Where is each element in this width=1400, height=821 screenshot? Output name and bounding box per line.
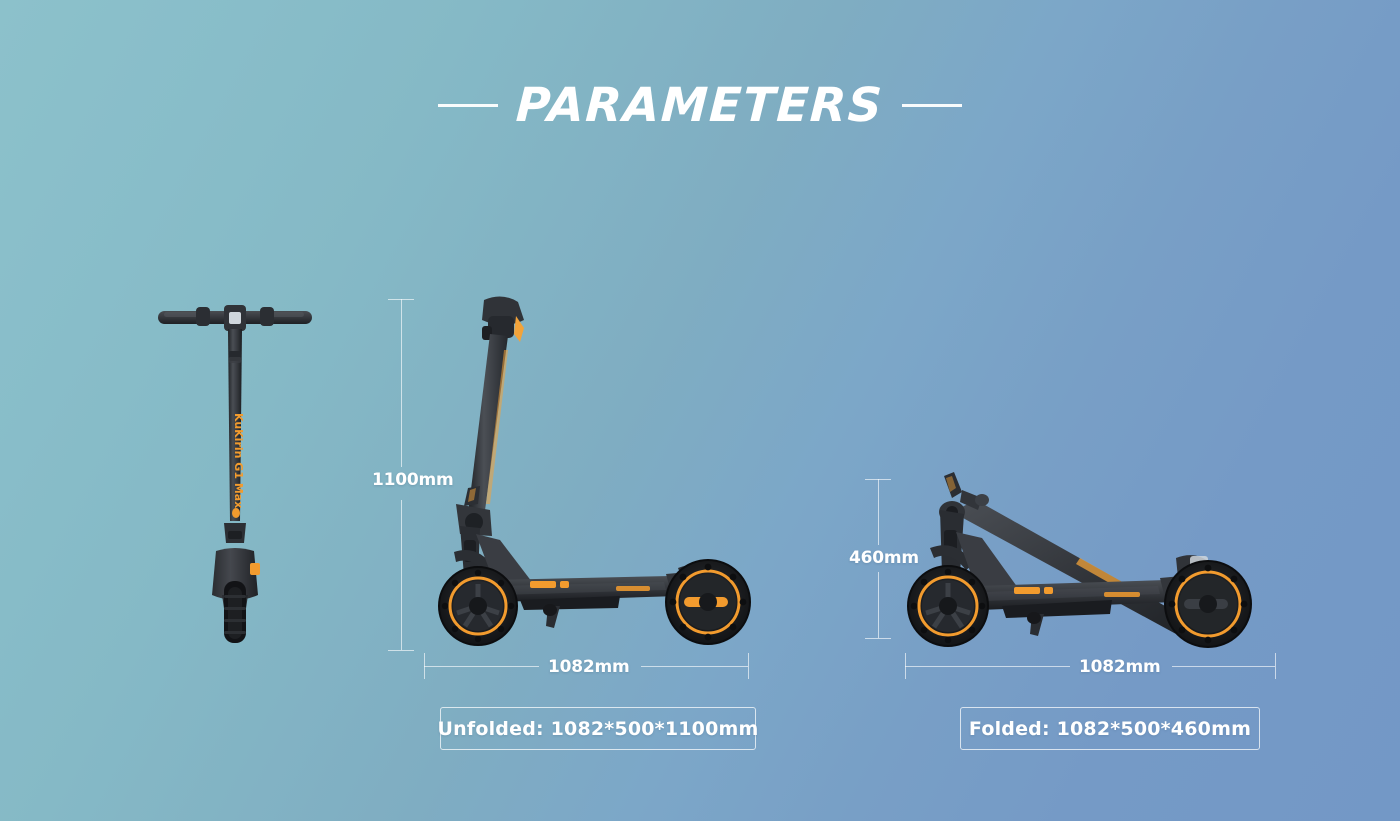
folded-height-label: 460mm bbox=[849, 548, 919, 568]
folded-length-line-left bbox=[905, 666, 1070, 667]
unfolded-length-line-left bbox=[424, 666, 539, 667]
unfolded-height-line-upper bbox=[401, 299, 402, 467]
folded-height-bottom-tick bbox=[865, 638, 891, 639]
folded-height-line-lower bbox=[878, 572, 879, 638]
brand-decal-front: KuKirin G1 Max bbox=[232, 413, 245, 508]
title-text: PARAMETERS bbox=[515, 82, 885, 129]
title-dash-left bbox=[438, 104, 498, 107]
unfolded-length-label: 1082mm bbox=[548, 657, 630, 677]
title-dash-right bbox=[902, 104, 962, 107]
unfolded-length-right-tick bbox=[748, 653, 749, 679]
folded-caption-box: Folded: 1082*500*460mm bbox=[960, 707, 1260, 750]
unfolded-caption-box: Unfolded: 1082*500*1100mm bbox=[440, 707, 756, 750]
unfolded-length-line-right bbox=[641, 666, 748, 667]
unfolded-height-line-lower bbox=[401, 500, 402, 650]
folded-length-right-tick bbox=[1275, 653, 1276, 679]
unfolded-side-view-scooter bbox=[420, 290, 760, 650]
page-title: PARAMETERS bbox=[0, 82, 1400, 129]
front-view-scooter: KuKirin G1 Max bbox=[150, 295, 320, 650]
unfolded-height-label: 1100mm bbox=[372, 470, 454, 490]
folded-length-line-right bbox=[1172, 666, 1275, 667]
unfolded-height-bottom-tick bbox=[388, 650, 414, 651]
folded-height-line-upper bbox=[878, 479, 879, 545]
folded-length-label: 1082mm bbox=[1079, 657, 1161, 677]
folded-side-view-scooter bbox=[890, 470, 1280, 650]
